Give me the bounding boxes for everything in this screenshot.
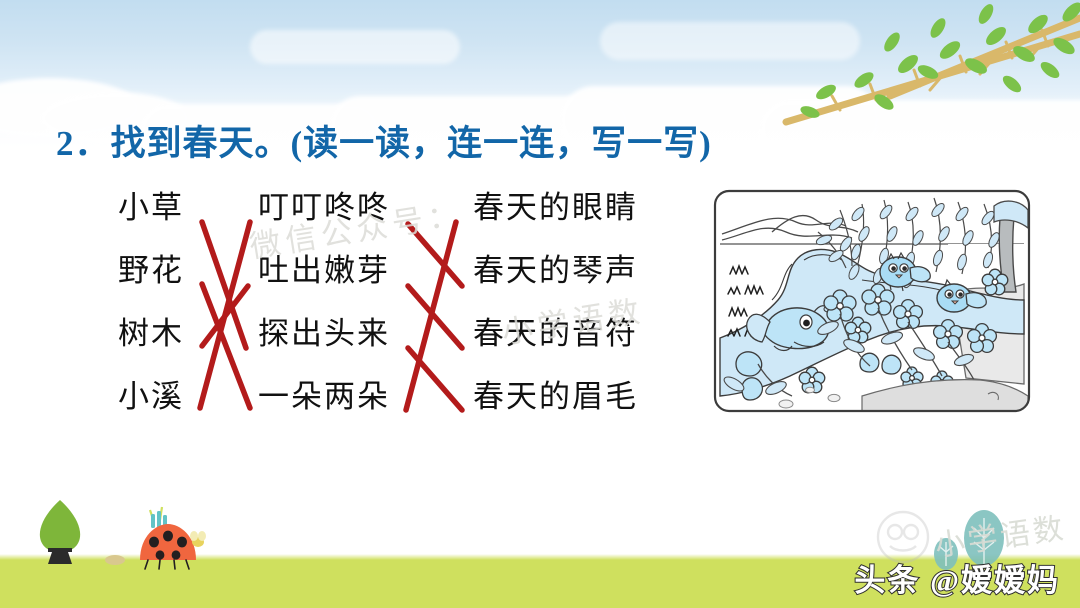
credit-watermark: 头条 @嫒嫒妈 <box>854 555 1060 600</box>
term-right-4[interactable]: 春天的眉毛 <box>473 365 638 428</box>
line-yehua-yiduoliangduo <box>202 284 250 408</box>
term-left-4[interactable]: 小溪 <box>118 365 184 428</box>
small-mound <box>105 555 125 565</box>
term-right-2[interactable]: 春天的琴声 <box>473 239 638 302</box>
cloud-shape <box>250 30 460 64</box>
term-middle-1[interactable]: 叮叮咚咚 <box>258 176 390 239</box>
green-tree-icon <box>40 500 80 564</box>
term-right-3[interactable]: 春天的音符 <box>473 302 638 365</box>
column-middle: 叮叮咚咚 吐出嫩芽 探出头来 一朵两朵 <box>258 176 390 428</box>
line-shumu-tuchunenya <box>202 286 248 346</box>
line-xiaocao-tanchutoulai <box>202 222 246 348</box>
line-tanchutoulai-meimao <box>408 348 462 410</box>
spring-scene-illustration <box>712 188 1032 414</box>
term-right-1[interactable]: 春天的眼睛 <box>473 176 638 239</box>
tree-branch-decoration <box>780 0 1080 130</box>
term-middle-2[interactable]: 吐出嫩芽 <box>258 239 390 302</box>
line-xiaoxi-dingdingdongdong <box>200 222 250 408</box>
page-title: 2．找到春天。(读一读，连一连，写一写) <box>56 115 712 166</box>
line-yiduoliangduo-yanjing <box>406 222 456 410</box>
ladybug-icon <box>140 507 206 569</box>
bottom-left-decorations <box>18 490 278 580</box>
line-tuchunenya-yinfu <box>408 286 462 348</box>
slide-canvas: 2．找到春天。(读一读，连一连，写一写) 小草 野花 树木 小溪 叮叮咚咚 吐出… <box>0 0 1080 608</box>
term-middle-4[interactable]: 一朵两朵 <box>258 365 390 428</box>
matching-exercise: 小草 野花 树木 小溪 叮叮咚咚 吐出嫩芽 探出头来 一朵两朵 春天的眼睛 春天… <box>0 176 700 426</box>
column-left: 小草 野花 树木 小溪 <box>118 176 184 428</box>
column-right: 春天的眼睛 春天的琴声 春天的音符 春天的眉毛 <box>473 176 638 428</box>
term-left-2[interactable]: 野花 <box>118 239 184 302</box>
term-middle-3[interactable]: 探出头来 <box>258 302 390 365</box>
term-left-3[interactable]: 树木 <box>118 302 184 365</box>
term-left-1[interactable]: 小草 <box>118 176 184 239</box>
line-dingdingdongdong-qinsheng <box>408 224 462 286</box>
